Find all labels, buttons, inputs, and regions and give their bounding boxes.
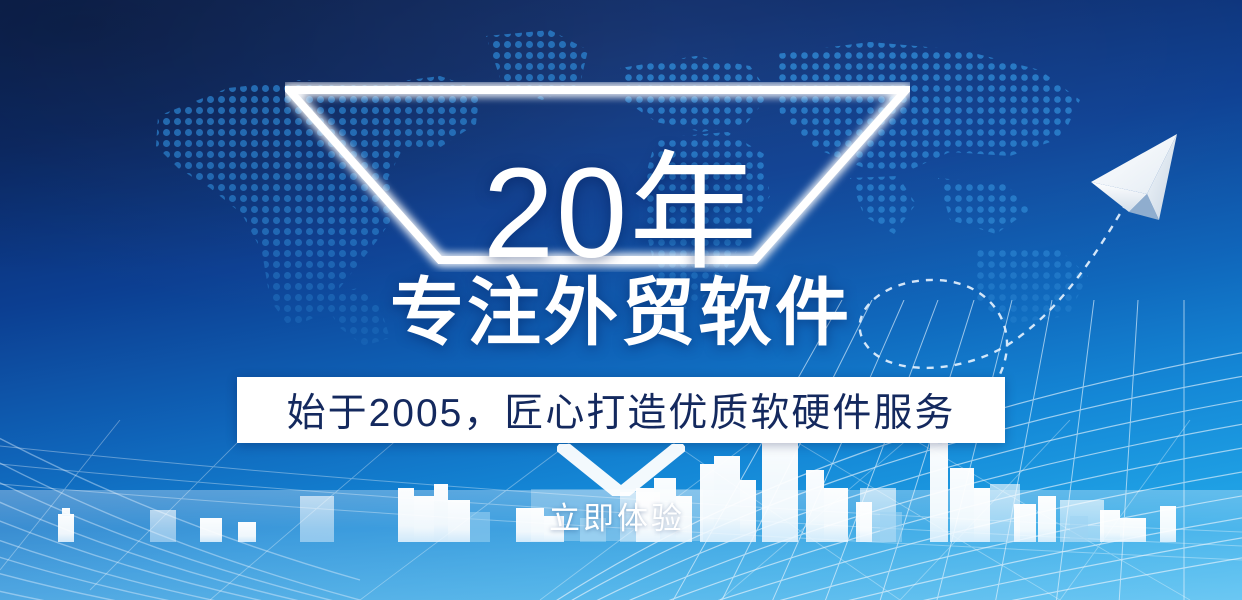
tagline-text: 始于2005，匠心打造优质软硬件服务: [287, 382, 956, 438]
headline-years: 20年: [0, 150, 1242, 278]
cta-button[interactable]: 立即体验: [531, 489, 703, 541]
headline-subtitle: 专注外贸软件: [0, 276, 1242, 350]
cta-button-label: 立即体验: [549, 493, 685, 538]
tagline-bar: 始于2005，匠心打造优质软硬件服务: [237, 377, 1005, 443]
promo-banner: 20年 专注外贸软件 始于2005，匠心打造优质软硬件服务 立即体验: [0, 0, 1242, 600]
